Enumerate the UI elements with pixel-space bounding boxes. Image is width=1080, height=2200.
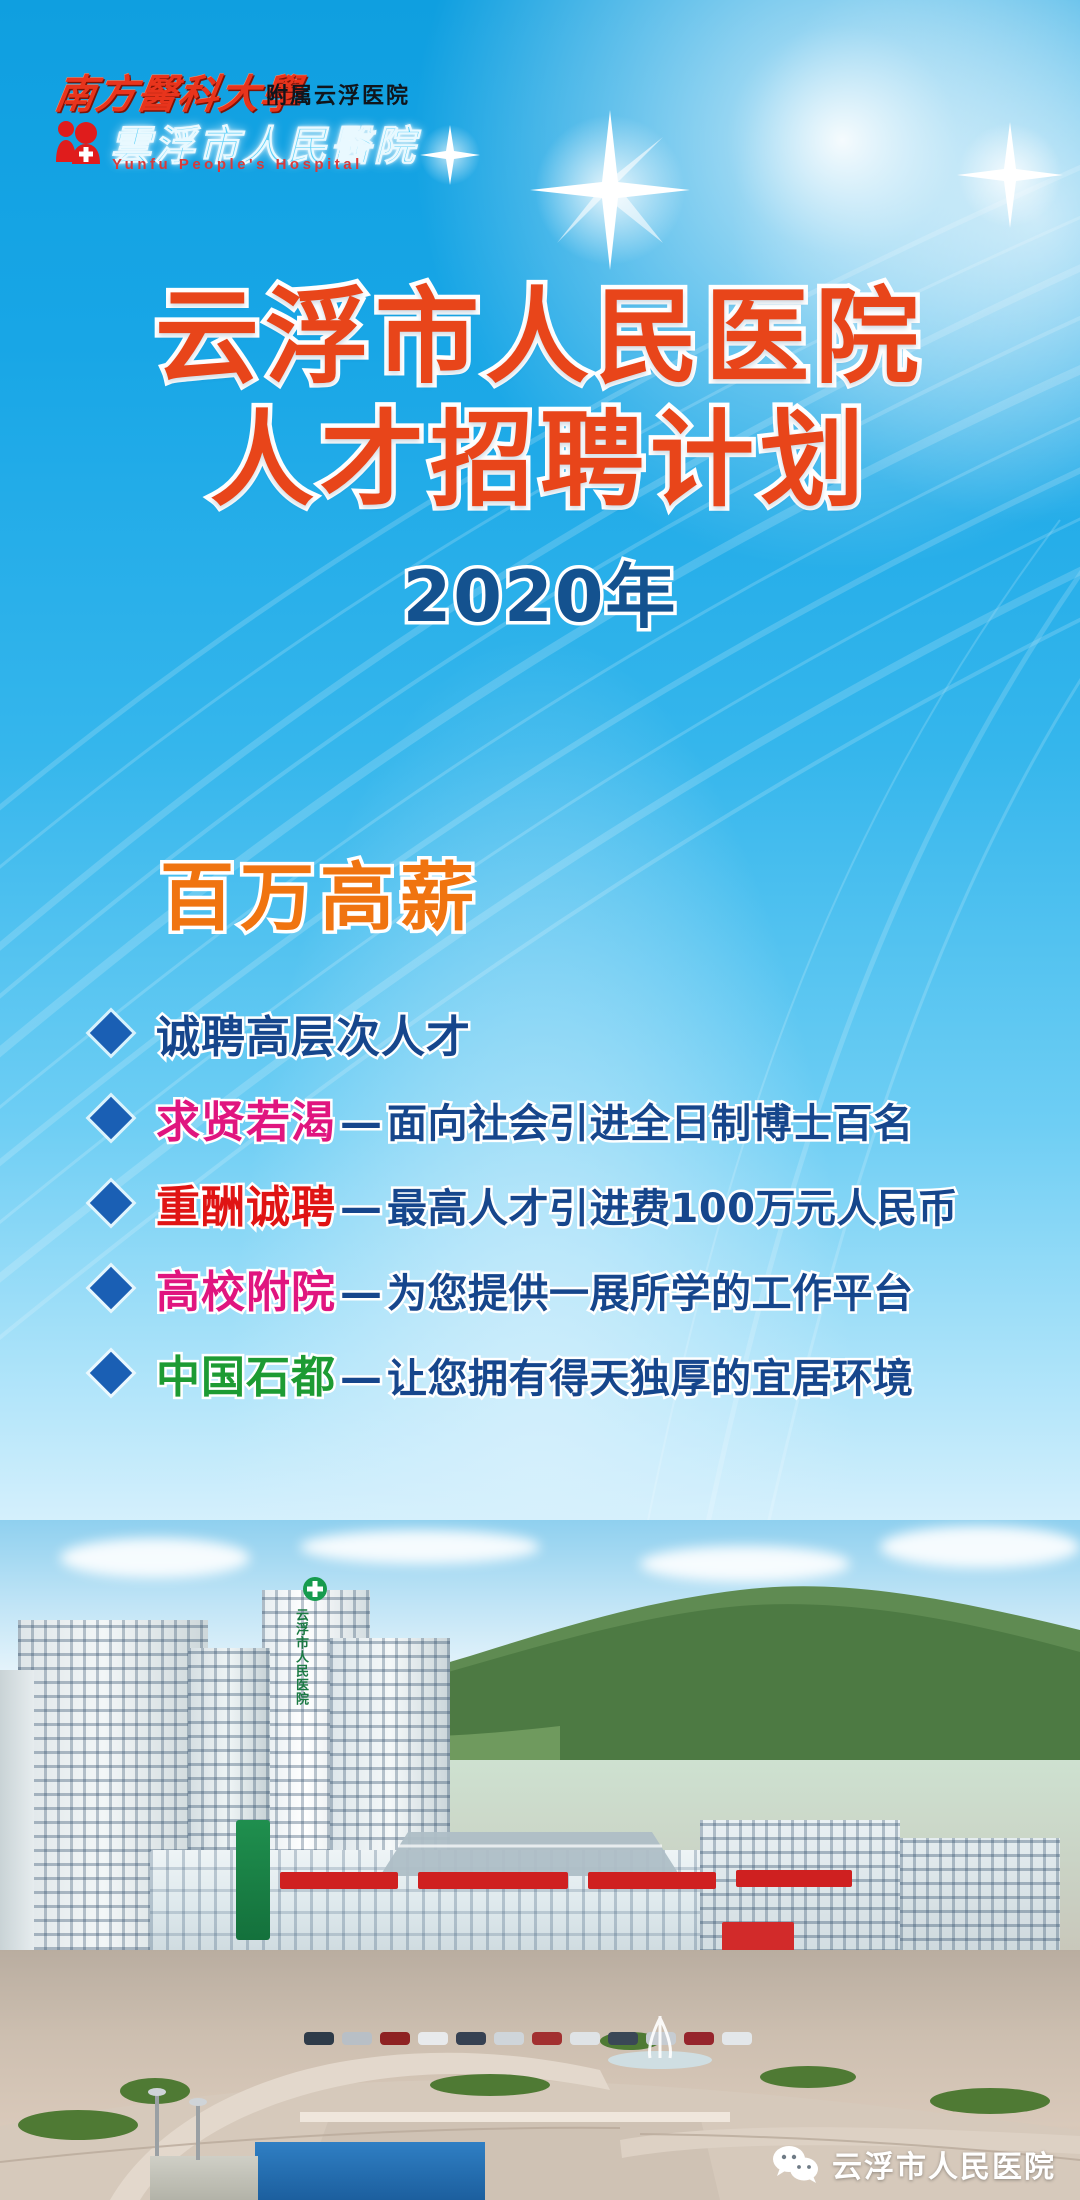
diamond-bullet-icon: [90, 1096, 132, 1138]
salary-headline: 百万高薪: [160, 838, 480, 945]
hospital-logo-header: 南方醫科大學 附属云浮医院 雲浮市人民醫院 Yunfu People's Hos…: [48, 62, 568, 187]
wechat-icon: [772, 2144, 820, 2184]
bullet-rest-3: 为您提供一展所学的工作平台: [387, 1271, 914, 1317]
bullet-rest-2: 最高人才引进费100万元人民币: [387, 1186, 958, 1232]
bullet-keyword-0: 诚聘高层次人才: [156, 1012, 471, 1063]
list-item: 求贤若渴—面向社会引进全日制博士百名: [96, 1075, 1016, 1160]
list-item: 中国石都—让您拥有得天独厚的宜居环境: [96, 1330, 1016, 1415]
bullet-keyword-3: 高校附院: [156, 1267, 336, 1318]
lamp-post: [155, 2094, 159, 2156]
facade-banner: [280, 1872, 398, 1889]
recruitment-poster: 南方醫科大學 附属云浮医院 雲浮市人民醫院 Yunfu People's Hos…: [0, 0, 1080, 2200]
shrub: [930, 2088, 1050, 2114]
list-item: 高校附院—为您提供一展所学的工作平台: [96, 1245, 1016, 1330]
shrub: [760, 2066, 856, 2088]
cloud: [300, 1530, 540, 1564]
podium-roof-canopy: [380, 1822, 680, 1876]
diamond-bullet-icon: [90, 1266, 132, 1308]
hospital-cross-emblem-icon: [284, 1576, 346, 1602]
title-line-2: 人才招聘计划: [0, 399, 1080, 522]
lamp-head-icon: [189, 2098, 207, 2106]
shrub: [430, 2074, 550, 2096]
wechat-account-name: 云浮市人民医院: [832, 2142, 1056, 2186]
lamp-head-icon: [148, 2088, 166, 2096]
pillar-sign: [236, 1820, 270, 1940]
list-item: 诚聘高层次人才: [96, 990, 1016, 1075]
affiliation-label: 附属云浮医院: [266, 78, 410, 110]
construction-barrier: [255, 2142, 485, 2200]
hospital-campus-photo: 云浮市人民医院: [0, 1520, 1080, 2200]
wechat-account-badge[interactable]: 云浮市人民医院: [772, 2142, 1056, 2186]
hospital-emblem-icon: [54, 120, 102, 164]
hospital-name-en: Yunfu People's Hospital: [112, 156, 363, 173]
bullet-rest-1: 面向社会引进全日制博士百名: [387, 1101, 914, 1147]
facade-banner: [418, 1872, 568, 1889]
list-item: 重酬诚聘—最高人才引进费100万元人民币: [96, 1160, 1016, 1245]
facade-banner: [736, 1870, 852, 1887]
building-vertical-sign: 云浮市人民医院: [288, 1608, 308, 1738]
bullet-dash-2: —: [336, 1183, 387, 1232]
bullet-keyword-2: 重酬诚聘: [156, 1182, 336, 1233]
facade-banner: [588, 1872, 716, 1889]
bullet-keyword-1: 求贤若渴: [156, 1097, 336, 1148]
shrub: [18, 2110, 138, 2140]
hospital-row: 雲浮市人民醫院 Yunfu People's Hospital: [48, 116, 568, 168]
diamond-bullet-icon: [90, 1351, 132, 1393]
title-year: 2020年: [0, 541, 1080, 642]
poster-title-block: 云浮市人民医院 人才招聘计划 2020年: [0, 276, 1080, 642]
bullet-dash-3: —: [336, 1268, 387, 1317]
bullet-dash-1: —: [336, 1098, 387, 1147]
diamond-bullet-icon: [90, 1181, 132, 1223]
building-left-edge: [0, 1670, 34, 1950]
diamond-bullet-icon: [90, 1011, 132, 1053]
foreground-wall: [150, 2156, 258, 2200]
title-line-1: 云浮市人民医院: [0, 276, 1080, 399]
lamp-post: [196, 2104, 200, 2160]
bullet-dash-4: —: [336, 1353, 387, 1402]
bullet-rest-4: 让您拥有得天独厚的宜居环境: [387, 1356, 914, 1402]
benefits-list: 诚聘高层次人才 求贤若渴—面向社会引进全日制博士百名 重酬诚聘—最高人才引进费1…: [96, 990, 1016, 1415]
fountain: [600, 2010, 720, 2070]
bullet-keyword-4: 中国石都: [156, 1352, 336, 1403]
